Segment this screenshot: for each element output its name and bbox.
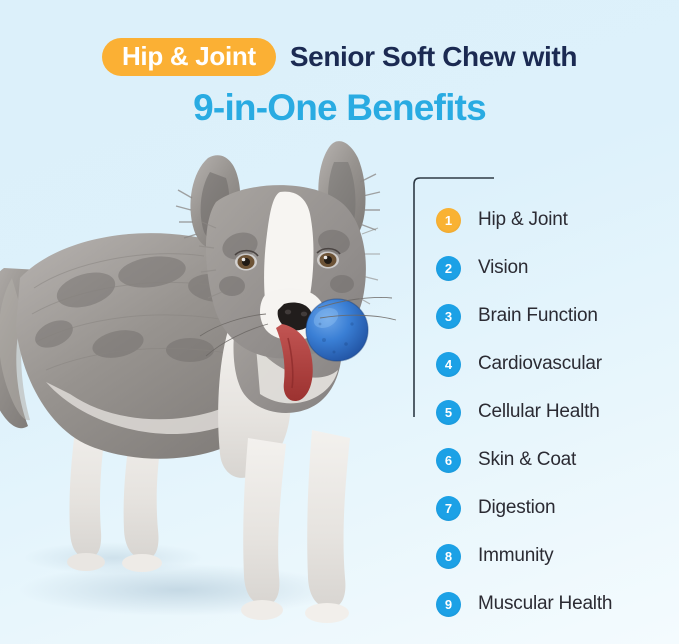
benefit-number-badge-8: 8 [436,544,461,569]
benefit-item-1: 1 Hip & Joint [436,196,679,244]
benefit-item-2: 2 Vision [436,244,679,292]
benefit-item-7: 7 Digestion [436,484,679,532]
headline-line-1: Senior Soft Chew with [290,41,577,73]
benefit-label-3: Brain Function [478,305,598,327]
benefit-item-4: 4 Cardiovascular [436,340,679,388]
benefit-label-8: Immunity [478,545,553,567]
benefit-number-badge-3: 3 [436,304,461,329]
benefit-number-badge-9: 9 [436,592,461,617]
headline-line-2: 9-in-One Benefits [0,87,679,129]
product-benefits-infographic: Hip & Joint Senior Soft Chew with 9-in-O… [0,0,679,644]
headline-row-primary: Hip & Joint Senior Soft Chew with [0,34,679,80]
benefit-number-badge-7: 7 [436,496,461,521]
benefit-item-6: 6 Skin & Coat [436,436,679,484]
benefit-item-8: 8 Immunity [436,532,679,580]
benefit-label-5: Cellular Health [478,401,600,423]
header: Hip & Joint Senior Soft Chew with 9-in-O… [0,34,679,129]
benefit-number-badge-1: 1 [436,208,461,233]
benefit-number-badge-5: 5 [436,400,461,425]
benefit-label-4: Cardiovascular [478,353,602,375]
benefit-label-7: Digestion [478,497,555,519]
hip-and-joint-pill-badge: Hip & Joint [102,38,276,77]
benefit-number-badge-4: 4 [436,352,461,377]
benefit-item-5: 5 Cellular Health [436,388,679,436]
dog-product-photo [0,138,414,644]
benefit-label-9: Muscular Health [478,593,612,615]
benefit-number-badge-2: 2 [436,256,461,281]
benefits-list: 1 Hip & Joint 2 Vision 3 Brain Function … [436,196,679,628]
benefit-number-badge-6: 6 [436,448,461,473]
benefit-label-1: Hip & Joint [478,209,568,231]
benefit-label-6: Skin & Coat [478,449,576,471]
benefit-item-3: 3 Brain Function [436,292,679,340]
dog-illustration [0,138,414,644]
benefit-item-9: 9 Muscular Health [436,580,679,628]
benefit-label-2: Vision [478,257,528,279]
